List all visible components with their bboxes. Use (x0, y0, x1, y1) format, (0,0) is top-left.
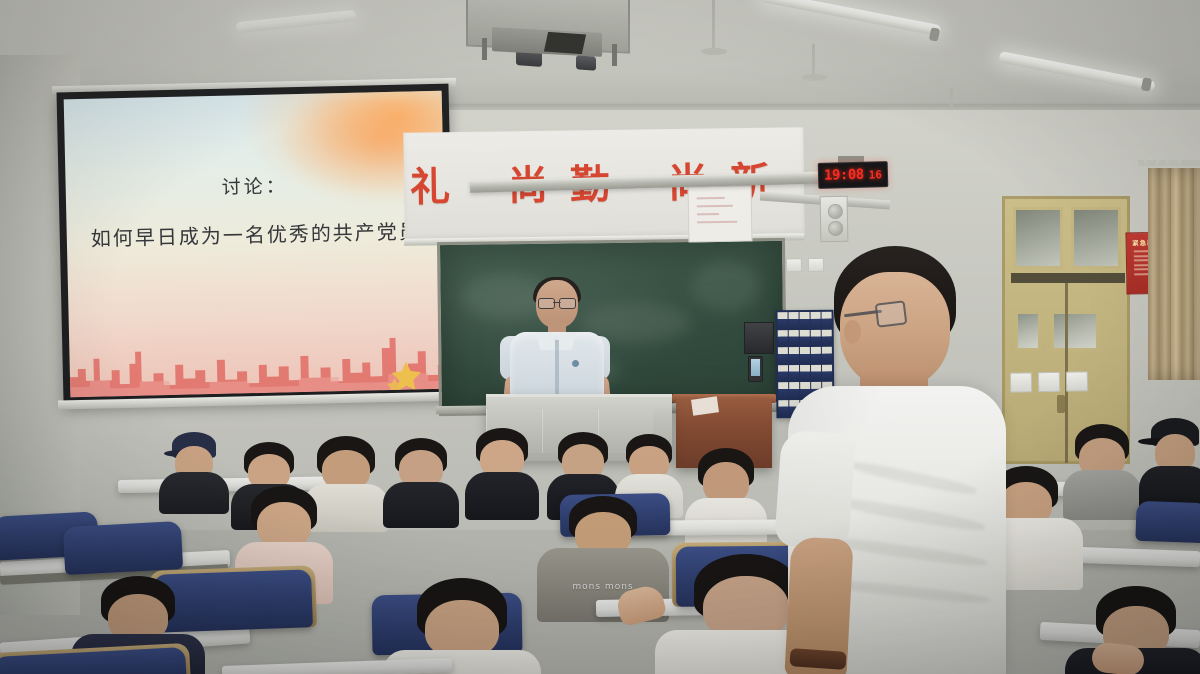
light-switch-panel[interactable] (1010, 371, 1088, 390)
slide-text-block: 讨论： 如何早日成为一名优秀的共产党员 (65, 168, 445, 253)
ceiling-fan-base (701, 48, 727, 55)
student (1140, 418, 1200, 502)
standing-student-sleeve (774, 430, 856, 551)
ceiling-speaker (576, 55, 596, 70)
student-torso (383, 482, 459, 528)
projector-lens (544, 32, 586, 54)
student-torso (159, 472, 229, 514)
light-switch[interactable] (1010, 372, 1032, 392)
presenter-glasses-icon (538, 298, 576, 307)
student (384, 438, 458, 512)
student (466, 428, 538, 504)
door-glass-panel (1071, 207, 1121, 269)
slide-skyline-graphic (69, 317, 449, 398)
standing-student (782, 246, 1012, 674)
wall-phone-screen (751, 359, 760, 376)
slide-question: 如何早日成为一名优秀的共产党员 (66, 215, 445, 253)
ceiling-fan-rod (950, 88, 953, 110)
door-glass-panel (1051, 311, 1099, 351)
door-crossbar (1011, 273, 1125, 283)
door-glass-panel (1013, 207, 1063, 269)
student-desk (222, 658, 452, 674)
slide-heading: 讨论： (65, 168, 444, 204)
classroom-photo: 讨论： 如何早日成为一名优秀的共产党员 礼 尚勤 尚新 (0, 0, 1200, 674)
wall-phone[interactable] (748, 356, 763, 382)
wall-chart (688, 185, 753, 242)
projector-leg (612, 44, 617, 66)
lecture-seat[interactable] (1135, 501, 1200, 543)
projection-screen: 讨论： 如何早日成为一名优秀的共产党员 (57, 84, 456, 405)
clock-time: 19:08 (824, 167, 864, 184)
lecture-seat[interactable] (63, 521, 183, 575)
digital-clock: 19:08 16 (818, 161, 889, 189)
student (160, 432, 228, 502)
ceiling-fan-rod (812, 44, 815, 78)
light-switch[interactable] (1038, 372, 1060, 392)
shirt-graphic-text: mons mons (572, 582, 633, 592)
ceiling-fan-rod (712, 0, 715, 52)
presenter (500, 280, 610, 410)
wall-speaker (820, 196, 849, 242)
av-control-panel[interactable] (744, 322, 774, 354)
blackboard (437, 238, 787, 416)
glasses-lens-icon (875, 300, 908, 327)
student-torso (465, 472, 539, 520)
curtain-hook (1144, 152, 1159, 167)
student (686, 448, 766, 528)
window-curtain[interactable] (1148, 168, 1200, 380)
slide-content: 讨论： 如何早日成为一名优秀的共产党员 (64, 91, 449, 397)
projector-leg (482, 38, 487, 60)
light-switch[interactable] (1066, 371, 1088, 391)
door-handle[interactable] (1057, 395, 1065, 413)
ceiling-fan-base (801, 74, 827, 81)
clock-seconds: 16 (869, 168, 883, 181)
standing-student-ear (844, 320, 861, 344)
wristwatch (789, 648, 846, 670)
curtain-hook (1166, 152, 1181, 167)
presenter-badge (572, 360, 579, 367)
door-glass-panel (1015, 311, 1041, 351)
